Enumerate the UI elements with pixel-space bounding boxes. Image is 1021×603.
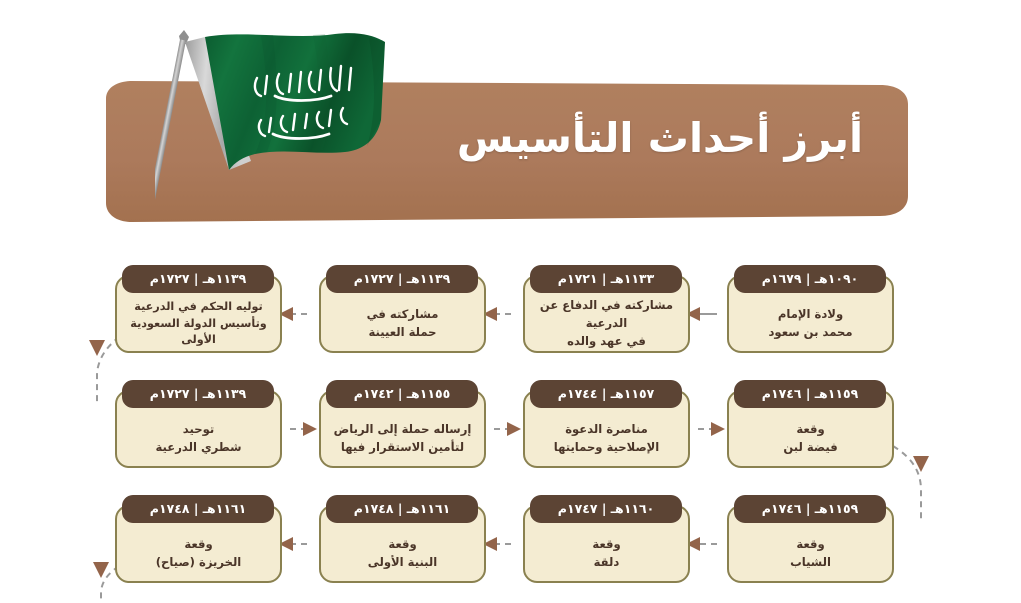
timeline-card-event-12[interactable]: ١١٦١هـ | ١٧٤٨م وقعة الخريزة (صياح)	[115, 505, 282, 583]
arrow-right-r2-a	[303, 422, 317, 436]
timeline-card-date: ١١٥٧هـ | ١٧٤٤م	[530, 380, 682, 408]
flag-pole-icon	[155, 30, 189, 232]
timeline-card-date: ١١٥٩هـ | ١٧٤٦م	[734, 495, 886, 523]
timeline-card-event-11[interactable]: ١١٦١هـ | ١٧٤٨م وقعة البنية الأولى	[319, 505, 486, 583]
timeline-card-date: ١١٥٩هـ | ١٧٤٦م	[734, 380, 886, 408]
arrow-down-left	[89, 340, 105, 356]
connector-r2-r3-curve	[893, 446, 921, 520]
timeline-card-text: وقعة البنية الأولى	[327, 531, 478, 577]
timeline-card-text: إرساله حملة إلى الرياض لتأمين الاستقرار …	[327, 416, 478, 462]
arrow-right-r2-b	[507, 422, 521, 436]
timeline-card-text: مشاركته في الدفاع عن الدرعية في عهد والد…	[531, 301, 682, 347]
timeline-card-date: ١١٣٣هـ | ١٧٢١م	[530, 265, 682, 293]
timeline-card-text: وقعة فيضة لبن	[735, 416, 886, 462]
arrow-right-r2-c	[711, 422, 725, 436]
timeline-card-event-1[interactable]: ١٠٩٠هـ | ١٦٧٩م ولادة الإمام محمد بن سعود	[727, 275, 894, 353]
header-banner: أبرز أحداث التأسيس	[0, 0, 1021, 240]
timeline-card-event-4[interactable]: ١١٣٩هـ | ١٧٢٧م توليه الحكم في الدرعية وت…	[115, 275, 282, 353]
timeline-card-text: وقعة الخريزة (صياح)	[123, 531, 274, 577]
timeline-card-date: ١١٣٩هـ | ١٧٢٧م	[122, 380, 274, 408]
timeline-card-event-2[interactable]: ١١٣٣هـ | ١٧٢١م مشاركته في الدفاع عن الدر…	[523, 275, 690, 353]
timeline-card-date: ١١٦١هـ | ١٧٤٨م	[326, 495, 478, 523]
arrow-down-exit	[93, 562, 109, 578]
timeline-card-text: توليه الحكم في الدرعية وتأسيس الدولة الس…	[123, 301, 274, 347]
timeline-card-text: وقعة دلقة	[531, 531, 682, 577]
timeline-card-event-6[interactable]: ١١٥٥هـ | ١٧٤٢م إرساله حملة إلى الرياض لت…	[319, 390, 486, 468]
timeline-card-event-8[interactable]: ١١٥٩هـ | ١٧٤٦م وقعة فيضة لبن	[727, 390, 894, 468]
timeline-card-text: ولادة الإمام محمد بن سعود	[735, 301, 886, 347]
timeline-card-date: ١١٣٩هـ | ١٧٢٧م	[326, 265, 478, 293]
timeline-card-date: ١١٣٩هـ | ١٧٢٧م	[122, 265, 274, 293]
timeline-card-event-9[interactable]: ١١٥٩هـ | ١٧٤٦م وقعة الشياب	[727, 505, 894, 583]
timeline-card-event-5[interactable]: ١١٣٩هـ | ١٧٢٧م توحيد شطري الدرعية	[115, 390, 282, 468]
timeline-card-text: مناصرة الدعوة الإصلاحية وحمايتها	[531, 416, 682, 462]
timeline-card-event-10[interactable]: ١١٦٠هـ | ١٧٤٧م وقعة دلقة	[523, 505, 690, 583]
timeline-card-event-3[interactable]: ١١٣٩هـ | ١٧٢٧م مشاركته في حملة العيينة	[319, 275, 486, 353]
saudi-flag	[155, 28, 400, 233]
timeline-card-date: ١١٥٥هـ | ١٧٤٢م	[326, 380, 478, 408]
timeline-card-event-7[interactable]: ١١٥٧هـ | ١٧٤٤م مناصرة الدعوة الإصلاحية و…	[523, 390, 690, 468]
timeline-card-date: ١٠٩٠هـ | ١٦٧٩م	[734, 265, 886, 293]
timeline-card-date: ١١٦٠هـ | ١٧٤٧م	[530, 495, 682, 523]
timeline-card-date: ١١٦١هـ | ١٧٤٨م	[122, 495, 274, 523]
arrow-down-right	[913, 456, 929, 472]
infographic-canvas: أبرز أحداث التأسيس	[0, 0, 1021, 603]
timeline-card-text: وقعة الشياب	[735, 531, 886, 577]
timeline-card-text: مشاركته في حملة العيينة	[327, 301, 478, 347]
page-title: أبرز أحداث التأسيس	[420, 115, 900, 162]
timeline-card-text: توحيد شطري الدرعية	[123, 416, 274, 462]
